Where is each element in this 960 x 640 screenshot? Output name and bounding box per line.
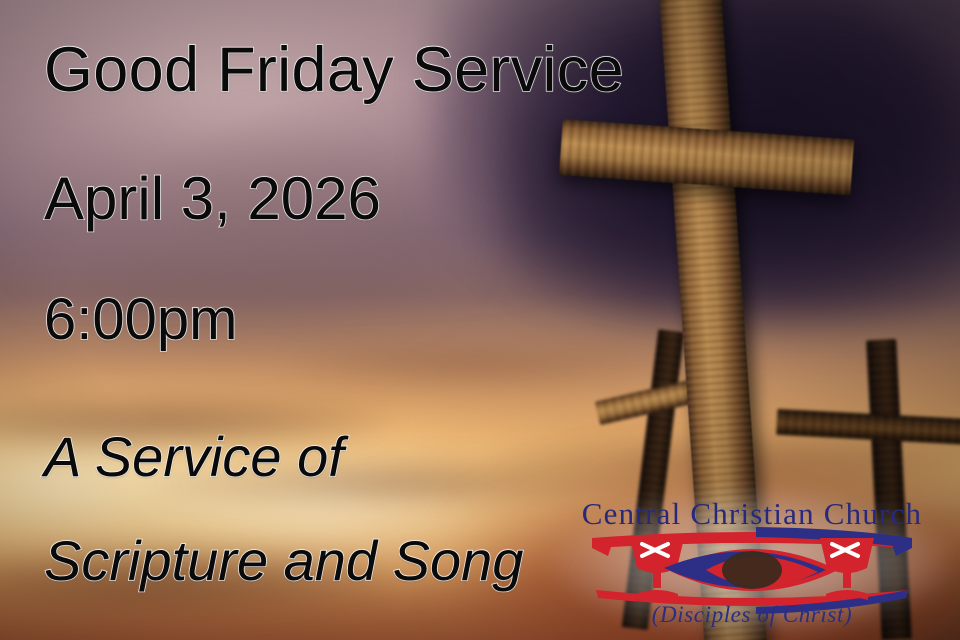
event-subtitle-line-2: Scripture and Song — [44, 528, 523, 593]
logo-org-name: Central Christian Church — [582, 496, 922, 531]
center-cross-horizontal-beam — [559, 119, 854, 195]
emblem-left-flare — [592, 538, 614, 556]
chalice-fish-emblem — [592, 527, 912, 614]
page-title: Good Friday Service — [44, 34, 624, 106]
good-friday-service-poster: Good Friday Service April 3, 2026 6:00pm… — [0, 0, 960, 640]
church-logo: Central Christian Church — [556, 494, 948, 630]
logo-affiliation: (Disciples of Christ) — [652, 602, 852, 627]
event-date: April 3, 2026 — [44, 164, 381, 233]
event-time: 6:00pm — [44, 286, 237, 353]
center-fish-emblem — [664, 549, 838, 591]
fish-pupil — [722, 551, 782, 589]
event-subtitle-line-1: A Service of — [44, 424, 344, 489]
